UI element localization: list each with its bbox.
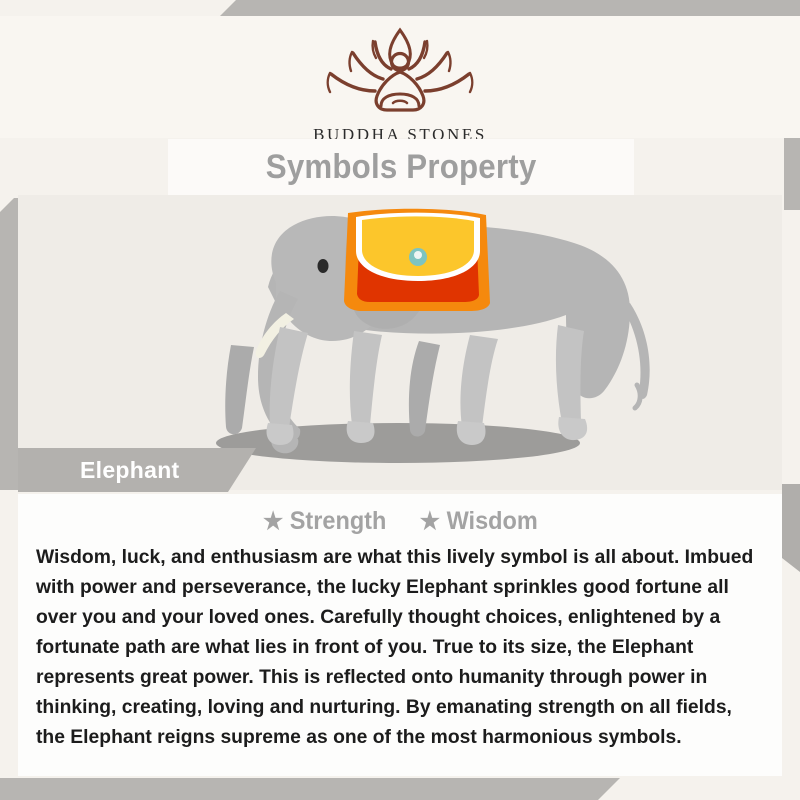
lotus-meditation-icon <box>315 22 485 123</box>
symbol-description-text: Wisdom, luck, and enthusiasm are what th… <box>36 542 755 752</box>
title-banner: Symbols Property <box>168 139 634 195</box>
saddle-flap-yellow <box>362 216 474 276</box>
accent-bar-bottom-left <box>0 778 620 800</box>
attribute-strength-label: Strength <box>289 507 386 536</box>
brand-header: BUDDHA STONES <box>0 16 800 138</box>
attribute-wisdom-label: Wisdom <box>446 507 537 536</box>
elephant-eye <box>318 259 329 273</box>
saddle-gem-inner <box>414 251 422 259</box>
elephant-hind-leg-near <box>460 335 498 436</box>
star-icon: ★ <box>263 510 283 534</box>
symbol-attributes: ★ Strength ★ Wisdom <box>18 494 782 536</box>
elephant-mid-leg-near <box>350 331 382 434</box>
page-title: Symbols Property <box>266 148 537 187</box>
illustration-panel <box>18 195 782 490</box>
symbol-label: Elephant <box>80 457 180 484</box>
symbol-label-badge: Elephant <box>18 448 256 492</box>
elephant-rear-leg-near <box>556 325 584 431</box>
symbol-description-card: ★ Strength ★ Wisdom Wisdom, luck, and en… <box>18 494 782 776</box>
symbol-property-card: BUDDHA STONES Symbols Property <box>0 0 800 800</box>
accent-bar-top-right <box>220 0 800 16</box>
attribute-wisdom: ★ Wisdom <box>420 507 538 536</box>
accent-bar-left <box>0 198 18 490</box>
elephant-front-leg-far <box>225 345 254 434</box>
accent-tab-right <box>782 484 800 572</box>
brand-logo-block: BUDDHA STONES <box>0 22 800 145</box>
star-icon: ★ <box>420 510 440 534</box>
attribute-strength: ★ Strength <box>263 507 386 536</box>
elephant-back-leg-far <box>409 341 440 437</box>
